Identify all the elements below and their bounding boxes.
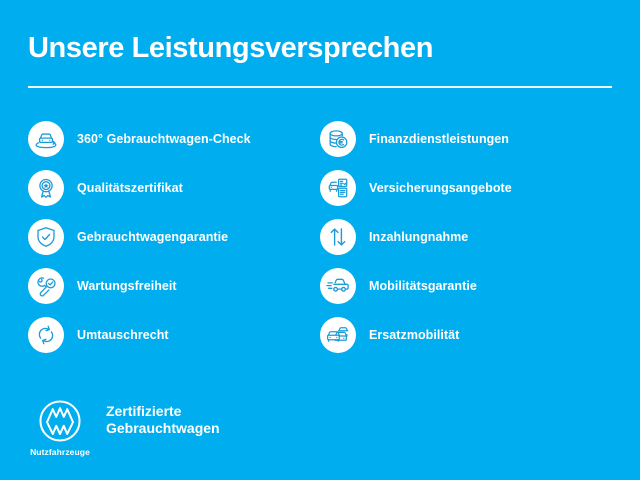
two-cars-icon (320, 317, 356, 353)
footer-tagline-line2: Gebrauchtwagen (106, 420, 220, 437)
promise-label: Inzahlungnahme (369, 230, 468, 244)
promise-label: Mobilitätsgarantie (369, 279, 477, 293)
vw-sub-brand-label: Nutzfahrzeuge (30, 447, 90, 457)
promise-item-gebrauchtwagen-check: 360° Gebrauchtwagen-Check (28, 121, 320, 157)
van-motion-icon (320, 268, 356, 304)
promise-label: Finanzdienstleistungen (369, 132, 509, 146)
promise-item-wartungsfreiheit: Wartungsfreiheit (28, 268, 320, 304)
promise-item-inzahlungnahme: Inzahlungnahme (320, 219, 612, 255)
footer-tagline-line1: Zertifizierte (106, 403, 220, 420)
promise-item-mobilitaetsgarantie: Mobilitätsgarantie (320, 268, 612, 304)
promise-label: Umtauschrecht (77, 328, 169, 342)
coins-euro-icon (320, 121, 356, 157)
wrench-check-icon (28, 268, 64, 304)
promise-item-finanzdienstleistungen: Finanzdienstleistungen (320, 121, 612, 157)
promises-right-column: Finanzdienstleistungen Versicherungsange… (320, 121, 612, 371)
arrows-up-down-icon (320, 219, 356, 255)
exchange-arrows-icon (28, 317, 64, 353)
promise-label: Gebrauchtwagengarantie (77, 230, 228, 244)
car-360-check-icon (28, 121, 64, 157)
footer: Nutzfahrzeuge Zertifizierte Gebrauchtwag… (28, 398, 220, 457)
award-rosette-icon (28, 170, 64, 206)
promise-item-ersatzmobilitaet: Ersatzmobilität (320, 317, 612, 353)
footer-tagline: Zertifizierte Gebrauchtwagen (106, 398, 220, 437)
title-divider (28, 86, 612, 88)
promise-label: Wartungsfreiheit (77, 279, 177, 293)
promise-item-gebrauchtwagengarantie: Gebrauchtwagengarantie (28, 219, 320, 255)
promise-item-versicherungsangebote: Versicherungsangebote (320, 170, 612, 206)
promise-label: Versicherungsangebote (369, 181, 512, 195)
vw-logo-block: Nutzfahrzeuge (28, 398, 92, 457)
vw-service-promises-graphic: { "theme": { "background": "#00AEEF", "f… (0, 0, 640, 480)
promises-left-column: 360° Gebrauchtwagen-Check Qualitätszerti… (28, 121, 320, 371)
page-title: Unsere Leistungsversprechen (28, 28, 612, 68)
promise-item-qualitaetszertifikat: Qualitätszertifikat (28, 170, 320, 206)
promise-label: Qualitätszertifikat (77, 181, 183, 195)
shield-check-icon (28, 219, 64, 255)
promises-list: 360° Gebrauchtwagen-Check Qualitätszerti… (28, 121, 612, 371)
header: Unsere Leistungsversprechen (28, 28, 612, 88)
promise-label: Ersatzmobilität (369, 328, 459, 342)
promise-item-umtauschrecht: Umtauschrecht (28, 317, 320, 353)
vw-roundel-logo (37, 398, 83, 444)
car-document-icon (320, 170, 356, 206)
promise-label: 360° Gebrauchtwagen-Check (77, 132, 251, 146)
